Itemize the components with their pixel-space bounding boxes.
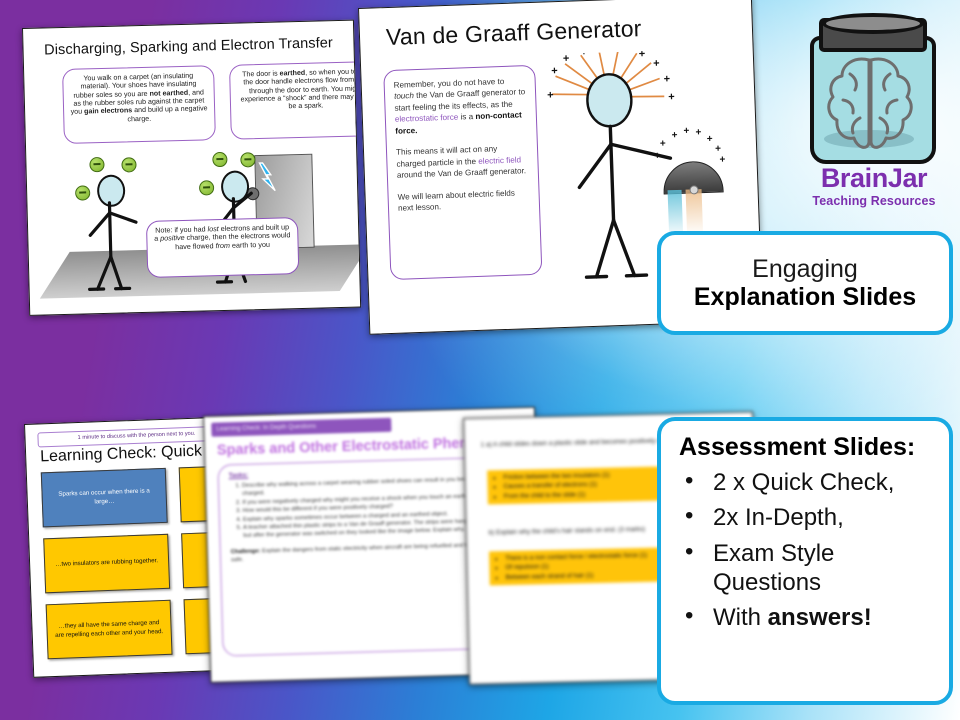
- svg-text:+: +: [639, 48, 646, 60]
- callout-explanation-line1: Engaging: [752, 255, 858, 283]
- vdg-explanation-bubble: Remember, you do not have to touch the V…: [383, 65, 542, 280]
- speech-bubble-carpet: You walk on a carpet (an insulating mate…: [62, 65, 216, 144]
- svg-text:+: +: [671, 130, 677, 141]
- svg-text:+: +: [653, 58, 660, 70]
- bubble2-b1: earthed: [279, 69, 305, 78]
- bubble-text-b2: gain electrons: [84, 107, 132, 116]
- slide-vdg-title: Van de Graaff Generator: [386, 15, 642, 51]
- slide-discharging[interactable]: Discharging, Sparking and Electron Trans…: [22, 20, 361, 316]
- vdg-p5: around the Van de Graaff generator.: [397, 167, 527, 181]
- svg-text:+: +: [551, 65, 558, 77]
- electron-icon: [89, 157, 104, 172]
- vdg-head: [586, 74, 632, 128]
- svg-text:+: +: [660, 138, 666, 149]
- electron-icon: [212, 152, 227, 167]
- svg-text:+: +: [695, 127, 701, 138]
- svg-text:+: +: [719, 154, 725, 165]
- svg-text:+: +: [715, 143, 721, 154]
- note-bubble: Note: if you had lost electrons and buil…: [146, 217, 299, 278]
- callout-assessment-slides: Assessment Slides: 2 x Quick Check, 2x I…: [657, 417, 953, 705]
- assessment-item-bold: answers!: [768, 604, 872, 631]
- svg-text:+: +: [563, 53, 570, 65]
- electron-icon: [240, 152, 255, 167]
- in-depth-chip: Learning Check: In Depth Questions: [211, 418, 391, 437]
- note-p4: earth to you: [230, 240, 270, 250]
- svg-text:+: +: [547, 89, 554, 101]
- vdg-p6: We will learn about electric fields next…: [397, 187, 530, 215]
- svg-text:+: +: [683, 126, 689, 137]
- svg-text:+: +: [580, 47, 587, 58]
- poster-canvas: Discharging, Sparking and Electron Trans…: [0, 0, 960, 720]
- note-i3: from: [215, 241, 230, 250]
- stick-figure-head: [97, 174, 126, 207]
- brand-tagline: Teaching Resources: [798, 194, 950, 208]
- callout-assessment-heading: Assessment Slides:: [679, 433, 935, 462]
- assessment-item-answers: With answers!: [679, 603, 935, 632]
- assessment-item: 2x In-Depth,: [679, 503, 935, 532]
- answer-box[interactable]: Sparks can occur when there is a large…: [41, 468, 168, 528]
- svg-text:+: +: [620, 47, 627, 53]
- electron-icon: [121, 157, 136, 172]
- vdg-i1: touch: [394, 92, 414, 102]
- brand-name: BrainJar: [798, 163, 950, 194]
- vdg-purple-2: electric field: [478, 155, 521, 165]
- assessment-item-prefix: With: [713, 604, 768, 631]
- svg-text:+: +: [597, 47, 604, 54]
- callout-explanation-slides: Engaging Explanation Slides: [657, 231, 953, 335]
- svg-text:+: +: [654, 151, 660, 162]
- svg-text:+: +: [707, 134, 713, 145]
- electron-icon: [75, 185, 90, 200]
- vdg-p3: is a: [458, 112, 475, 122]
- assessment-item: Exam Style Questions: [679, 539, 935, 598]
- vdg-purple-1: electrostatic force: [395, 113, 459, 124]
- challenge-label: Challenge:: [231, 548, 261, 555]
- callout-explanation-line2: Explanation Slides: [694, 283, 916, 311]
- bubble-text-p4: and build up a negative charge.: [127, 105, 207, 123]
- stick-figure-head: [221, 170, 250, 203]
- answer-box[interactable]: …they all have the same charge and are r…: [46, 600, 173, 660]
- svg-text:+: +: [668, 91, 675, 103]
- callout-assessment-list: 2 x Quick Check, 2x In-Depth, Exam Style…: [679, 468, 935, 632]
- vdg-p2: the Van de Graaff generator to start fee…: [394, 88, 525, 113]
- svg-text:+: +: [663, 73, 670, 85]
- slide-discharging-title: Discharging, Sparking and Electron Trans…: [23, 35, 353, 59]
- speech-bubble-door: The door is earthed, so when you touch t…: [229, 61, 361, 140]
- dome-field-lines-orange: [686, 189, 704, 236]
- jar-lid-top-icon: [822, 13, 924, 34]
- assessment-item: 2 x Quick Check,: [679, 468, 935, 497]
- electron-icon: [199, 180, 214, 195]
- answer-box[interactable]: …two insulators are rubbing together.: [43, 534, 170, 594]
- brainjar-logo: BrainJar Teaching Resources: [798, 8, 950, 223]
